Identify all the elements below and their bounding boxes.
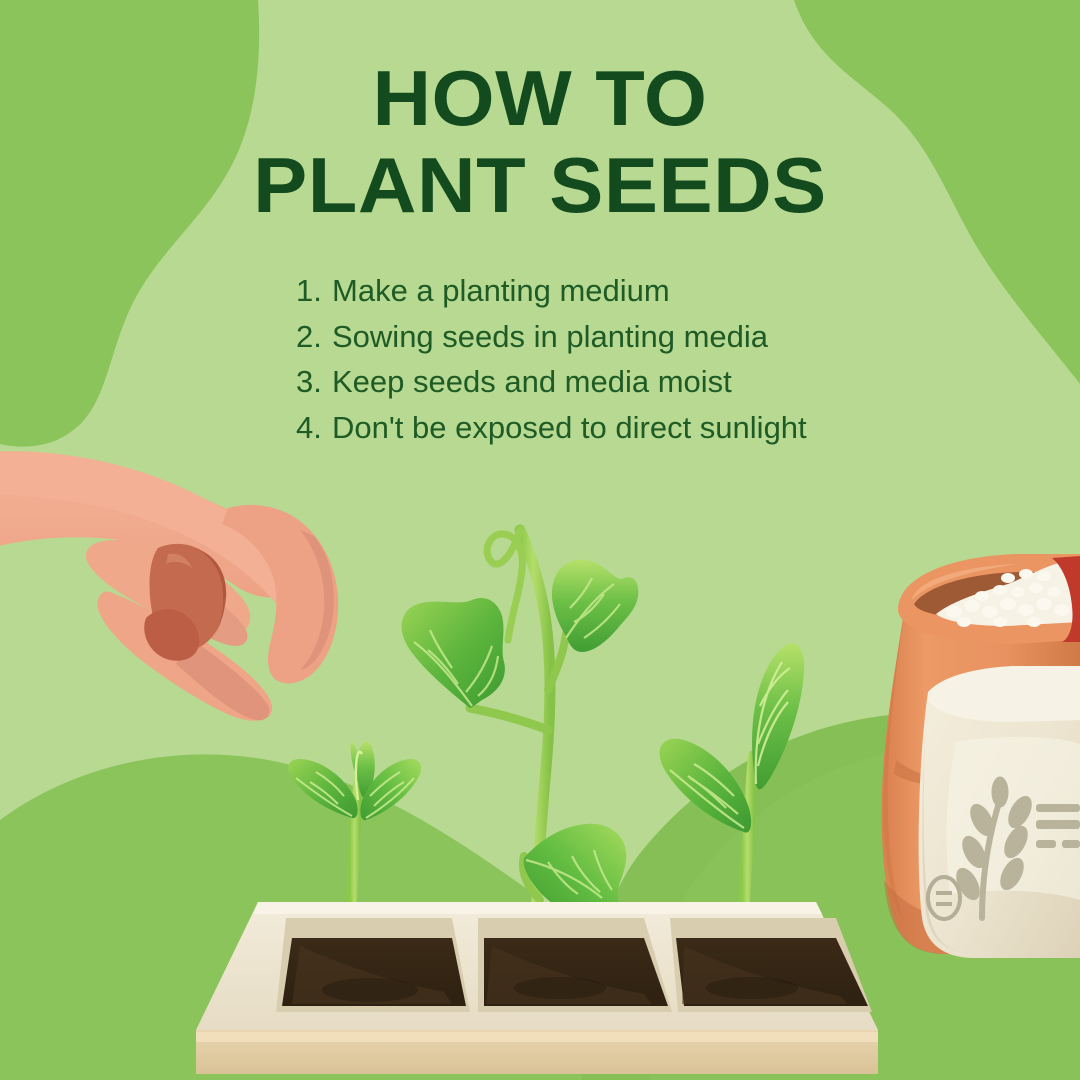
list-item-number: 3. xyxy=(296,359,332,405)
list-item: 4. Don't be exposed to direct sunlight xyxy=(296,405,916,451)
tray-front-highlight xyxy=(196,1032,878,1042)
tray-cell-2 xyxy=(478,918,672,1012)
right-seedling-leaf-right xyxy=(752,644,804,790)
title-line-1: HOW TO xyxy=(0,62,1080,135)
page-title: HOW TO PLANT SEEDS xyxy=(0,62,1080,223)
list-item-label: Make a planting medium xyxy=(332,268,670,314)
left-seedling-leaf-left xyxy=(288,759,358,818)
hand-illustration xyxy=(0,451,338,721)
list-item-label: Keep seeds and media moist xyxy=(332,359,732,405)
list-item: 2. Sowing seeds in planting media xyxy=(296,314,916,360)
list-item: 3. Keep seeds and media moist xyxy=(296,359,916,405)
list-item: 1. Make a planting medium xyxy=(296,268,916,314)
list-item-number: 2. xyxy=(296,314,332,360)
tray-top-edge-highlight xyxy=(254,902,822,914)
infographic-poster: HOW TO PLANT SEEDS 1. Make a planting me… xyxy=(0,0,1080,1080)
right-seedling-leaf-left xyxy=(660,739,752,833)
list-item-number: 1. xyxy=(296,268,332,314)
seed-tray xyxy=(196,902,878,1074)
tray-cell-1 xyxy=(276,918,470,1012)
title-line-2: PLANT SEEDS xyxy=(0,149,1080,222)
list-item-label: Sowing seeds in planting media xyxy=(332,314,768,360)
tray-cell-3 xyxy=(670,918,872,1012)
seed-sack-illustration xyxy=(882,554,1080,958)
list-item-label: Don't be exposed to direct sunlight xyxy=(332,405,807,451)
steps-list: 1. Make a planting medium 2. Sowing seed… xyxy=(296,268,916,450)
vine-leaf-left xyxy=(402,598,505,708)
hand-index-finger xyxy=(222,505,338,683)
vine-branch-left xyxy=(470,708,548,730)
list-item-number: 4. xyxy=(296,405,332,451)
